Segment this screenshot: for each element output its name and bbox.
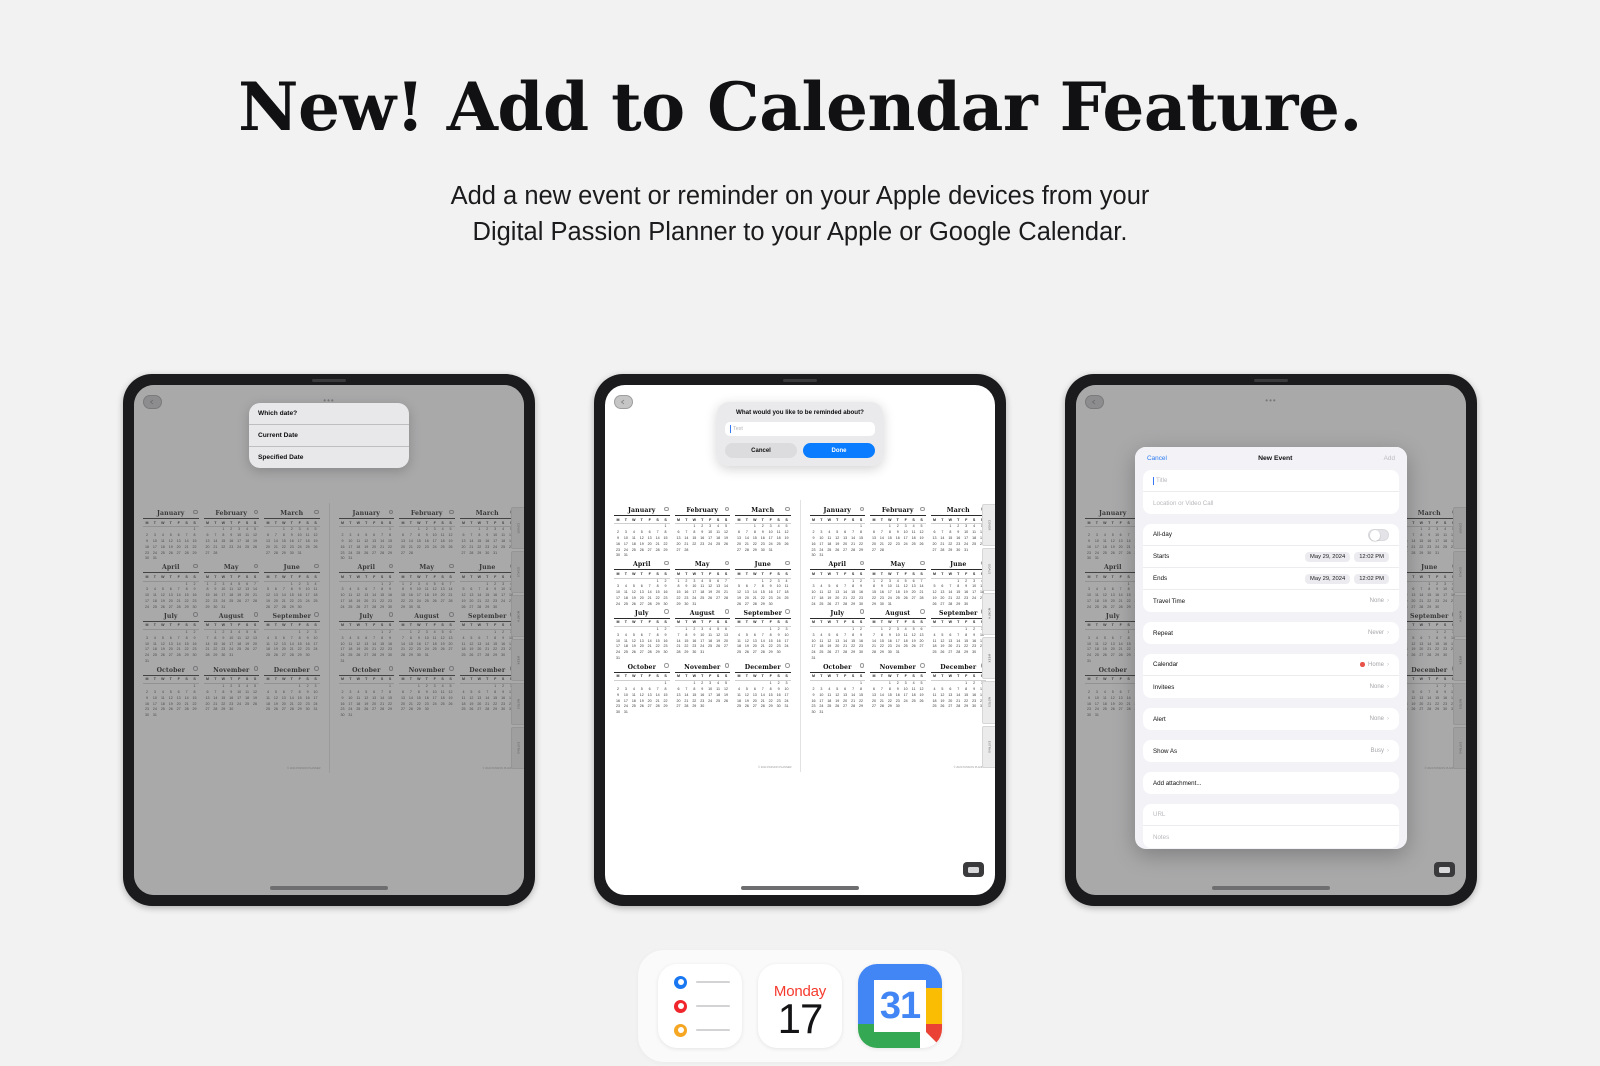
day-cell[interactable]: 30	[878, 602, 886, 608]
cancel-button[interactable]: Cancel	[1147, 455, 1167, 462]
dow-cell: M	[614, 572, 622, 578]
chevron-right-icon: ›	[1387, 630, 1389, 636]
index-tab-week[interactable]: WEEK	[982, 637, 995, 679]
row-all-day[interactable]: All-day	[1143, 524, 1399, 546]
dow-cell: S	[714, 674, 722, 680]
add-button[interactable]: Add	[1384, 455, 1395, 462]
day-cell[interactable]: 28	[954, 650, 962, 656]
text-caret	[730, 425, 731, 433]
dow-cell: T	[622, 572, 630, 578]
month-marker-icon[interactable]	[920, 561, 925, 566]
month-name: May	[675, 561, 731, 570]
dow-cell: T	[759, 620, 767, 626]
day-cell[interactable]: 28	[743, 548, 751, 554]
day-cell[interactable]: 30	[970, 704, 978, 710]
home-indicator	[270, 886, 388, 890]
day-cell[interactable]: 31	[767, 548, 775, 554]
week-row: 2627282930	[931, 602, 987, 608]
apple-calendar-icon[interactable]: Monday 17	[758, 964, 842, 1048]
alert-option-specified-date[interactable]: Specified Date	[249, 447, 409, 468]
alert-value-wrap: None ›	[1370, 716, 1389, 722]
google-calendar-icon[interactable]: 31	[858, 964, 942, 1048]
week-row: 2728	[675, 548, 731, 554]
day-cell[interactable]: 27	[938, 602, 946, 608]
day-cell[interactable]: 29	[759, 602, 767, 608]
month-marker-icon[interactable]	[725, 663, 730, 668]
day-cell	[918, 602, 926, 608]
index-tab-notes[interactable]: NOTES	[982, 681, 995, 723]
day-cell[interactable]: 27	[743, 602, 751, 608]
day-cell[interactable]: 30	[954, 548, 962, 554]
month-block: JanuaryMTWTFSS12345678910111213141516171…	[614, 507, 670, 559]
day-cell[interactable]: 29	[767, 704, 775, 710]
day-of-week-header: MTWTFSS	[614, 518, 670, 525]
reminder-line	[696, 1005, 730, 1007]
tablet-1-screen: JanuaryMTWTFSS12345678910111213141516171…	[134, 385, 524, 895]
location-placeholder: Location or Video Call	[1153, 500, 1213, 507]
day-cell[interactable]: 27	[870, 704, 878, 710]
day-cell[interactable]: 29	[849, 602, 857, 608]
month-marker-icon[interactable]	[860, 561, 865, 566]
chevron-right-icon: ›	[1387, 662, 1389, 668]
day-cell[interactable]: 27	[675, 548, 683, 554]
day-cell[interactable]: 28	[759, 704, 767, 710]
day-cell[interactable]: 26	[825, 602, 833, 608]
row-label: Alert	[1153, 716, 1166, 723]
day-cell[interactable]: 27	[751, 704, 759, 710]
week-row: 252627282930	[735, 650, 791, 656]
day-cell[interactable]: 30	[698, 704, 706, 710]
row-label: Starts	[1153, 553, 1169, 560]
day-cell[interactable]: 31	[817, 553, 825, 559]
month-marker-icon[interactable]	[920, 507, 925, 512]
index-tab-month[interactable]: MONTH	[982, 593, 995, 635]
dow-cell: F	[841, 620, 849, 626]
day-cell	[714, 704, 722, 710]
week-row: 25262728293031	[735, 704, 791, 710]
text-caret	[1153, 477, 1154, 485]
day-cell	[646, 553, 654, 559]
day-cell[interactable]: 28	[954, 704, 962, 710]
day-cell	[638, 710, 646, 716]
row-label: Invitees	[1153, 684, 1174, 691]
dow-cell: T	[638, 518, 646, 524]
tablet-2-screen: JanuaryMTWTFSS12345678910111213141516171…	[605, 385, 995, 895]
index-tab-goals[interactable]: GOALS	[982, 548, 995, 590]
day-cell[interactable]: 30	[775, 704, 783, 710]
month-marker-icon[interactable]	[664, 507, 669, 512]
dow-cell: S	[857, 674, 865, 680]
day-cell[interactable]: 30	[970, 650, 978, 656]
day-cell	[783, 602, 791, 608]
day-of-week-header: MTWTFSS	[810, 674, 866, 681]
dow-cell: T	[954, 572, 962, 578]
dismiss-keyboard-button[interactable]	[963, 862, 984, 877]
dow-cell: F	[962, 518, 970, 524]
dow-cell: M	[675, 620, 683, 626]
month-name: February	[870, 507, 926, 516]
day-of-week-header: MTWTFSS	[614, 620, 670, 627]
event-alert-group: Alert None ›	[1143, 708, 1399, 730]
row-add-attachment[interactable]: Add attachment...	[1143, 772, 1399, 794]
day-cell[interactable]: 29	[675, 602, 683, 608]
month-marker-icon[interactable]	[860, 609, 865, 614]
day-cell[interactable]: 30	[962, 602, 970, 608]
day-cell[interactable]: 27	[735, 548, 743, 554]
day-cell[interactable]: 28	[675, 650, 683, 656]
day-cell[interactable]: 26	[735, 602, 743, 608]
day-cell[interactable]: 31	[962, 548, 970, 554]
day-cell[interactable]: 31	[894, 650, 902, 656]
all-day-toggle[interactable]	[1368, 529, 1389, 541]
day-cell[interactable]: 31	[817, 710, 825, 716]
dow-cell: S	[849, 674, 857, 680]
week-row: 3031	[614, 553, 670, 559]
day-cell[interactable]: 29	[682, 650, 690, 656]
day-cell	[706, 602, 714, 608]
day-cell[interactable]: 26	[938, 650, 946, 656]
dow-cell: F	[767, 572, 775, 578]
day-cell[interactable]: 27	[946, 650, 954, 656]
day-cell[interactable]: 30	[759, 548, 767, 554]
month-name: July	[614, 610, 670, 619]
month-block: AprilMTWTFSS1234567891011121314151617181…	[810, 561, 866, 607]
day-cell[interactable]: 26	[743, 704, 751, 710]
row-label: Repeat	[1153, 630, 1173, 637]
dow-cell: F	[706, 518, 714, 524]
row-calendar[interactable]: Calendar Home ›	[1143, 654, 1399, 676]
dow-cell: T	[894, 518, 902, 524]
row-starts[interactable]: Starts May 29, 2024 12:02 PM	[1143, 546, 1399, 568]
day-cell[interactable]: 25	[735, 650, 743, 656]
dow-cell: S	[849, 572, 857, 578]
day-cell[interactable]: 27	[833, 602, 841, 608]
dow-cell: F	[962, 674, 970, 680]
month-marker-icon[interactable]	[725, 561, 730, 566]
dow-cell: S	[654, 572, 662, 578]
cancel-button[interactable]: Cancel	[725, 443, 797, 458]
sheet-header: Cancel New Event Add	[1135, 447, 1407, 470]
dow-cell: S	[714, 518, 722, 524]
month-block: OctoberMTWTFSS12345678910111213141516171…	[614, 664, 670, 716]
dow-cell: T	[743, 518, 751, 524]
day-cell[interactable]: 28	[751, 602, 759, 608]
month-marker-icon[interactable]	[664, 663, 669, 668]
day-cell[interactable]: 28	[938, 548, 946, 554]
day-of-week-header: MTWTFSS	[735, 674, 791, 681]
dow-cell: S	[857, 572, 865, 578]
month-marker-icon[interactable]	[785, 561, 790, 566]
months-grid-left: JanuaryMTWTFSS12345678910111213141516171…	[614, 507, 791, 716]
planner-spread-2: JanuaryMTWTFSS12345678910111213141516171…	[605, 500, 995, 772]
index-tab-cover[interactable]: COVER	[982, 504, 995, 546]
day-cell[interactable]: 26	[931, 602, 939, 608]
day-cell[interactable]: 29	[886, 704, 894, 710]
dow-cell: F	[767, 620, 775, 626]
month-marker-icon[interactable]	[664, 609, 669, 614]
new-event-sheet[interactable]: Cancel New Event Add Title Location o	[1135, 447, 1407, 849]
day-cell[interactable]: 25	[817, 602, 825, 608]
month-marker-icon[interactable]	[785, 507, 790, 512]
day-cell	[970, 602, 978, 608]
month-marker-icon[interactable]	[920, 663, 925, 668]
dismiss-keyboard-button[interactable]	[1434, 862, 1455, 877]
month-block: SeptemberMTWTFSS123456789101112131415161…	[735, 610, 791, 662]
day-cell[interactable]: 26	[938, 704, 946, 710]
ends-date[interactable]: May 29, 2024	[1305, 574, 1350, 584]
dow-cell: T	[682, 572, 690, 578]
day-cell	[857, 710, 865, 716]
reminder-prompt-dialog[interactable]: What would you like to be reminded about…	[717, 402, 883, 466]
dow-cell: T	[698, 572, 706, 578]
day-cell[interactable]: 29	[870, 602, 878, 608]
tablet-device-2: JanuaryMTWTFSS12345678910111213141516171…	[594, 374, 1006, 906]
month-block: NovemberMTWTFSS1234567891011121314151617…	[870, 664, 926, 716]
dow-cell: T	[698, 620, 706, 626]
day-cell[interactable]: 31	[698, 650, 706, 656]
dow-cell: F	[646, 518, 654, 524]
month-block: MayMTWTFSS123456789101112131415161718192…	[675, 561, 731, 607]
day-cell[interactable]: 30	[690, 650, 698, 656]
month-block: AugustMTWTFSS123456789101112131415161718…	[870, 610, 926, 662]
notes-field[interactable]: Notes	[1143, 826, 1399, 848]
starts-date[interactable]: May 29, 2024	[1305, 552, 1350, 562]
day-cell[interactable]: 31	[622, 710, 630, 716]
dow-cell: S	[722, 620, 730, 626]
dow-cell: W	[946, 620, 954, 626]
week-row: 24252627282930	[614, 602, 670, 608]
day-cell	[918, 704, 926, 710]
month-marker-icon[interactable]	[725, 507, 730, 512]
day-cell[interactable]: 25	[735, 704, 743, 710]
day-cell[interactable]: 28	[759, 650, 767, 656]
dow-cell: W	[751, 572, 759, 578]
chevron-right-icon: ›	[1387, 716, 1389, 722]
day-of-week-header: MTWTFSS	[810, 620, 866, 627]
dow-cell: T	[743, 674, 751, 680]
day-cell[interactable]: 30	[662, 602, 670, 608]
dow-cell: S	[775, 620, 783, 626]
day-cell[interactable]: 28	[682, 704, 690, 710]
title-placeholder: Title	[1156, 477, 1167, 484]
dow-cell: T	[938, 674, 946, 680]
row-ends[interactable]: Ends May 29, 2024 12:02 PM	[1143, 568, 1399, 590]
day-cell[interactable]: 30	[682, 602, 690, 608]
event-title-field[interactable]: Title	[1143, 470, 1399, 492]
day-cell	[722, 602, 730, 608]
dow-cell: S	[722, 572, 730, 578]
dow-cell: T	[759, 572, 767, 578]
day-of-week-header: MTWTFSS	[870, 620, 926, 627]
month-block: OctoberMTWTFSS12345678910111213141516171…	[810, 664, 866, 716]
back-button[interactable]	[614, 395, 633, 409]
day-cell	[654, 710, 662, 716]
dow-cell: M	[735, 674, 743, 680]
row-show-as[interactable]: Show As Busy ›	[1143, 740, 1399, 762]
dow-cell: W	[946, 572, 954, 578]
month-marker-icon[interactable]	[785, 663, 790, 668]
day-cell[interactable]: 28	[682, 548, 690, 554]
day-cell[interactable]: 29	[654, 602, 662, 608]
day-cell[interactable]: 30	[810, 710, 818, 716]
day-cell	[857, 553, 865, 559]
month-marker-icon[interactable]	[860, 663, 865, 668]
day-cell[interactable]: 28	[878, 548, 886, 554]
dow-cell: T	[698, 674, 706, 680]
day-cell[interactable]: 31	[622, 553, 630, 559]
day-cell[interactable]: 24	[614, 602, 622, 608]
day-cell[interactable]: 27	[751, 650, 759, 656]
tablet-device-1: JanuaryMTWTFSS12345678910111213141516171…	[123, 374, 535, 906]
dow-cell: W	[690, 572, 698, 578]
event-location-field[interactable]: Location or Video Call	[1143, 492, 1399, 514]
month-marker-icon[interactable]	[860, 507, 865, 512]
month-name: September	[735, 610, 791, 619]
index-tab-extras[interactable]: EXTRAS	[982, 726, 995, 768]
day-cell[interactable]: 24	[810, 602, 818, 608]
month-block: MarchMTWTFSS1234567891011121314151617181…	[931, 507, 987, 559]
day-cell[interactable]: 30	[810, 553, 818, 559]
dow-cell: S	[654, 674, 662, 680]
day-cell[interactable]: 30	[614, 553, 622, 559]
day-cell[interactable]: 30	[894, 704, 902, 710]
alert-title: Which date?	[249, 403, 409, 425]
month-marker-icon[interactable]	[664, 561, 669, 566]
alert-value: None	[1370, 716, 1384, 722]
dow-cell: S	[910, 572, 918, 578]
month-marker-icon[interactable]	[785, 609, 790, 614]
dow-cell: S	[714, 572, 722, 578]
row-invitees[interactable]: Invitees None ›	[1143, 676, 1399, 698]
day-cell[interactable]: 30	[775, 650, 783, 656]
month-block: MarchMTWTFSS1234567891011121314151617181…	[735, 507, 791, 559]
day-cell	[910, 602, 918, 608]
day-cell[interactable]: 29	[962, 650, 970, 656]
day-cell[interactable]: 29	[962, 704, 970, 710]
alert-option-current-date[interactable]: Current Date	[249, 425, 409, 447]
day-cell	[902, 704, 910, 710]
repeat-value-wrap: Never ›	[1368, 630, 1389, 636]
reminders-rows	[670, 976, 730, 1037]
day-cell	[714, 602, 722, 608]
day-cell	[970, 548, 978, 554]
month-marker-icon[interactable]	[725, 609, 730, 614]
day-cell[interactable]: 26	[743, 650, 751, 656]
day-cell[interactable]: 28	[870, 650, 878, 656]
dow-cell: S	[849, 620, 857, 626]
row-alert[interactable]: Alert None ›	[1143, 708, 1399, 730]
day-cell[interactable]: 29	[690, 704, 698, 710]
day-cell	[698, 548, 706, 554]
day-cell[interactable]: 25	[622, 602, 630, 608]
calendar-color-dot-icon	[1360, 662, 1365, 667]
day-cell	[698, 602, 706, 608]
starts-time[interactable]: 12:02 PM	[1354, 552, 1389, 562]
month-marker-icon[interactable]	[920, 609, 925, 614]
day-cell[interactable]: 31	[783, 704, 791, 710]
day-of-week-header: MTWTFSS	[870, 674, 926, 681]
day-cell	[722, 650, 730, 656]
dow-cell: T	[622, 620, 630, 626]
day-cell[interactable]: 27	[675, 704, 683, 710]
day-of-week-header: MTWTFSS	[931, 620, 987, 627]
reminder-text-input[interactable]: Text	[725, 422, 875, 436]
dow-cell: T	[638, 572, 646, 578]
day-of-week-header: MTWTFSS	[675, 674, 731, 681]
day-cell[interactable]: 28	[841, 602, 849, 608]
day-cell[interactable]: 29	[946, 548, 954, 554]
supported-apps-row: Monday 17 31	[638, 950, 962, 1062]
day-cell[interactable]: 27	[946, 704, 954, 710]
dow-cell: M	[614, 674, 622, 680]
calendar-value-wrap: Home ›	[1360, 662, 1389, 668]
planner-page-right: JanuaryMTWTFSS12345678910111213141516171…	[800, 500, 996, 772]
reminders-icon[interactable]	[658, 964, 742, 1048]
day-cell[interactable]: 27	[931, 548, 939, 554]
dow-cell: M	[810, 518, 818, 524]
dow-cell: S	[783, 572, 791, 578]
index-tabs[interactable]: COVERGOALSMONTHWEEKNOTESEXTRAS	[982, 500, 995, 772]
dow-cell: T	[817, 572, 825, 578]
day-cell[interactable]: 30	[886, 650, 894, 656]
day-cell	[902, 602, 910, 608]
dow-cell: M	[810, 620, 818, 626]
day-cell[interactable]: 31	[690, 602, 698, 608]
day-of-week-header: MTWTFSS	[675, 572, 731, 579]
done-button[interactable]: Done	[803, 443, 875, 458]
day-cell	[706, 548, 714, 554]
day-cell[interactable]: 28	[646, 602, 654, 608]
day-cell	[706, 704, 714, 710]
dow-cell: M	[614, 518, 622, 524]
url-field[interactable]: URL	[1143, 804, 1399, 826]
chevron-right-icon: ›	[1387, 748, 1389, 754]
month-block: SeptemberMTWTFSS123456789101112131415161…	[931, 610, 987, 662]
day-cell[interactable]: 27	[638, 602, 646, 608]
day-cell[interactable]: 30	[767, 602, 775, 608]
row-repeat[interactable]: Repeat Never ›	[1143, 622, 1399, 644]
dow-cell: W	[886, 674, 894, 680]
day-cell[interactable]: 29	[878, 650, 886, 656]
day-cell[interactable]: 25	[931, 704, 939, 710]
ends-time[interactable]: 12:02 PM	[1354, 574, 1389, 584]
day-cell[interactable]: 29	[954, 602, 962, 608]
day-cell[interactable]: 29	[767, 650, 775, 656]
day-cell[interactable]: 28	[946, 602, 954, 608]
day-of-week-header: MTWTFSS	[614, 674, 670, 681]
which-date-alert[interactable]: Which date? Current Date Specified Date	[249, 403, 409, 468]
day-cell[interactable]: 28	[878, 704, 886, 710]
dow-cell: S	[654, 620, 662, 626]
day-cell[interactable]: 27	[870, 548, 878, 554]
day-cell[interactable]: 31	[614, 656, 622, 662]
day-cell	[783, 650, 791, 656]
dow-cell: M	[870, 572, 878, 578]
day-cell[interactable]: 30	[614, 710, 622, 716]
dow-cell: M	[675, 518, 683, 524]
day-cell[interactable]: 29	[751, 548, 759, 554]
day-cell[interactable]: 30	[857, 602, 865, 608]
day-cell[interactable]: 26	[630, 602, 638, 608]
keyboard-icon	[968, 867, 979, 873]
day-cell[interactable]: 31	[886, 602, 894, 608]
day-cell[interactable]: 25	[931, 650, 939, 656]
week-row: 3031	[810, 710, 866, 716]
day-cell[interactable]: 31	[810, 656, 818, 662]
dow-cell: S	[910, 518, 918, 524]
row-travel-time[interactable]: Travel Time None ›	[1143, 590, 1399, 612]
month-block: JuneMTWTFSS12345678910111213141516171819…	[931, 561, 987, 607]
